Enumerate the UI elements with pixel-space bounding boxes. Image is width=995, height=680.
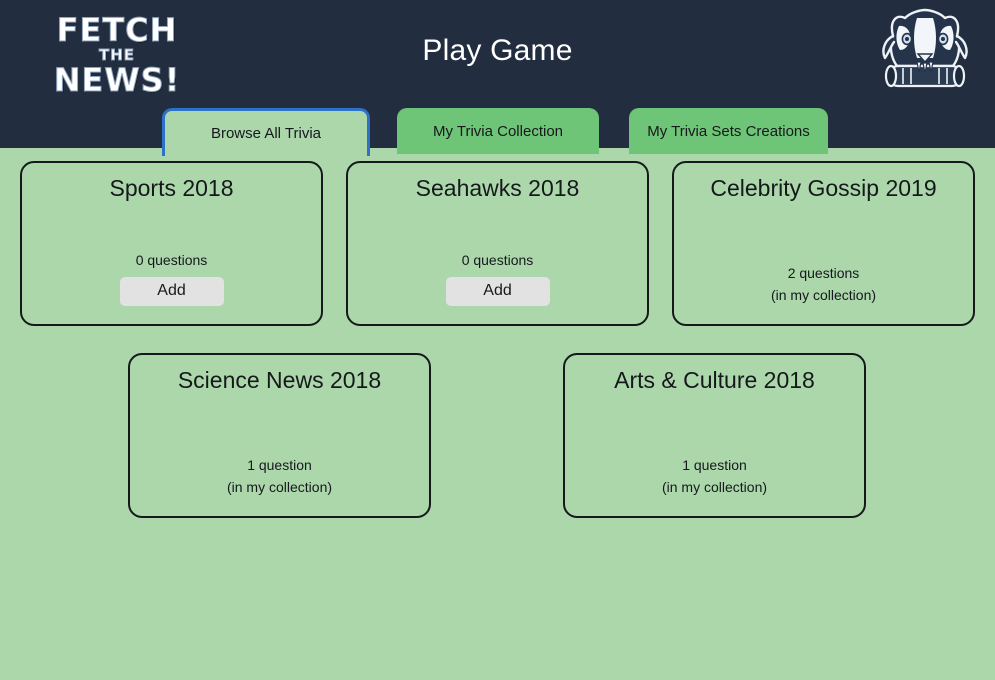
dog-with-newspaper-icon	[873, 6, 977, 98]
trivia-set-grid: Sports 2018 0 questions Add Seahawks 201…	[0, 148, 995, 680]
tab-bar: Browse All Trivia My Trivia Collection M…	[0, 108, 995, 154]
trivia-set-card[interactable]: Sports 2018 0 questions Add	[20, 161, 323, 326]
trivia-set-footer: 2 questions (in my collection)	[674, 262, 973, 306]
trivia-set-footer: 1 question (in my collection)	[565, 454, 864, 498]
trivia-set-title: Arts & Culture 2018	[565, 367, 864, 394]
trivia-set-footer: 0 questions Add	[22, 249, 321, 306]
trivia-set-card[interactable]: Arts & Culture 2018 1 question (in my co…	[563, 353, 866, 518]
trivia-set-footer: 1 question (in my collection)	[130, 454, 429, 498]
trivia-set-card[interactable]: Celebrity Gossip 2019 2 questions (in my…	[672, 161, 975, 326]
owned-status: (in my collection)	[674, 284, 973, 306]
trivia-set-title: Sports 2018	[22, 175, 321, 202]
trivia-set-card[interactable]: Seahawks 2018 0 questions Add	[346, 161, 649, 326]
brand-line-news: NEWS!	[22, 64, 212, 96]
app-header: FETCH THE NEWS! Play Game	[0, 0, 995, 148]
trivia-set-title: Science News 2018	[130, 367, 429, 394]
owned-status: (in my collection)	[130, 476, 429, 498]
tab-browse-all-trivia[interactable]: Browse All Trivia	[162, 108, 370, 156]
trivia-set-title: Celebrity Gossip 2019	[674, 175, 973, 202]
owned-status: (in my collection)	[565, 476, 864, 498]
tab-label: My Trivia Sets Creations	[647, 123, 810, 140]
tab-label: Browse All Trivia	[211, 125, 321, 142]
trivia-set-footer: 0 questions Add	[348, 249, 647, 306]
question-count: 2 questions	[674, 262, 973, 284]
page-title: Play Game	[0, 34, 995, 68]
tab-label: My Trivia Collection	[433, 123, 563, 140]
question-count: 1 question	[565, 454, 864, 476]
tab-my-trivia-collection[interactable]: My Trivia Collection	[397, 108, 599, 154]
question-count: 0 questions	[22, 249, 321, 271]
add-button[interactable]: Add	[120, 277, 224, 306]
question-count: 0 questions	[348, 249, 647, 271]
trivia-set-card[interactable]: Science News 2018 1 question (in my coll…	[128, 353, 431, 518]
question-count: 1 question	[130, 454, 429, 476]
add-button[interactable]: Add	[446, 277, 550, 306]
trivia-set-title: Seahawks 2018	[348, 175, 647, 202]
tab-my-trivia-sets-creations[interactable]: My Trivia Sets Creations	[629, 108, 828, 154]
